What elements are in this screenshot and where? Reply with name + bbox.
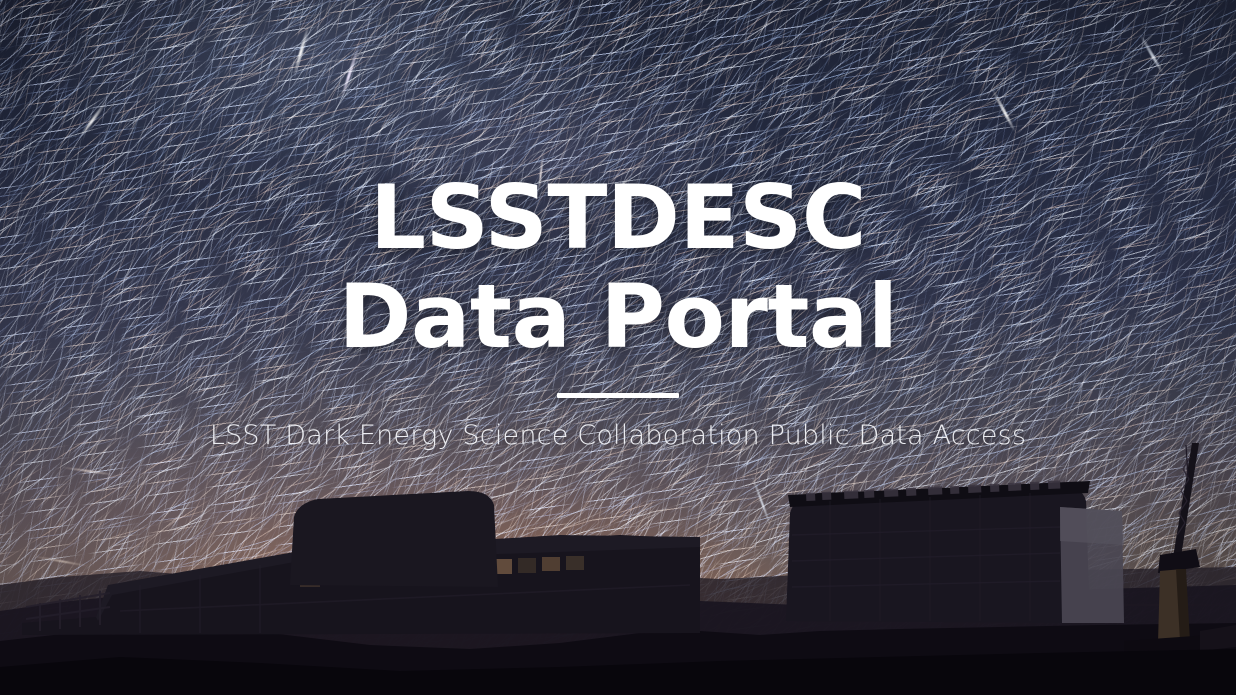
page-title-line-1: LSSTDESC [0, 168, 1236, 267]
title-divider [557, 393, 679, 398]
page-subtitle: LSST Dark Energy Science Collaboration P… [0, 420, 1236, 451]
hero-banner: LSSTDESC Data Portal LSST Dark Energy Sc… [0, 0, 1236, 695]
hero-content: LSSTDESC Data Portal LSST Dark Energy Sc… [0, 168, 1236, 451]
page-title: LSSTDESC Data Portal [0, 168, 1236, 367]
horizon-light-streak [980, 604, 1236, 606]
page-title-line-2: Data Portal [0, 267, 1236, 366]
